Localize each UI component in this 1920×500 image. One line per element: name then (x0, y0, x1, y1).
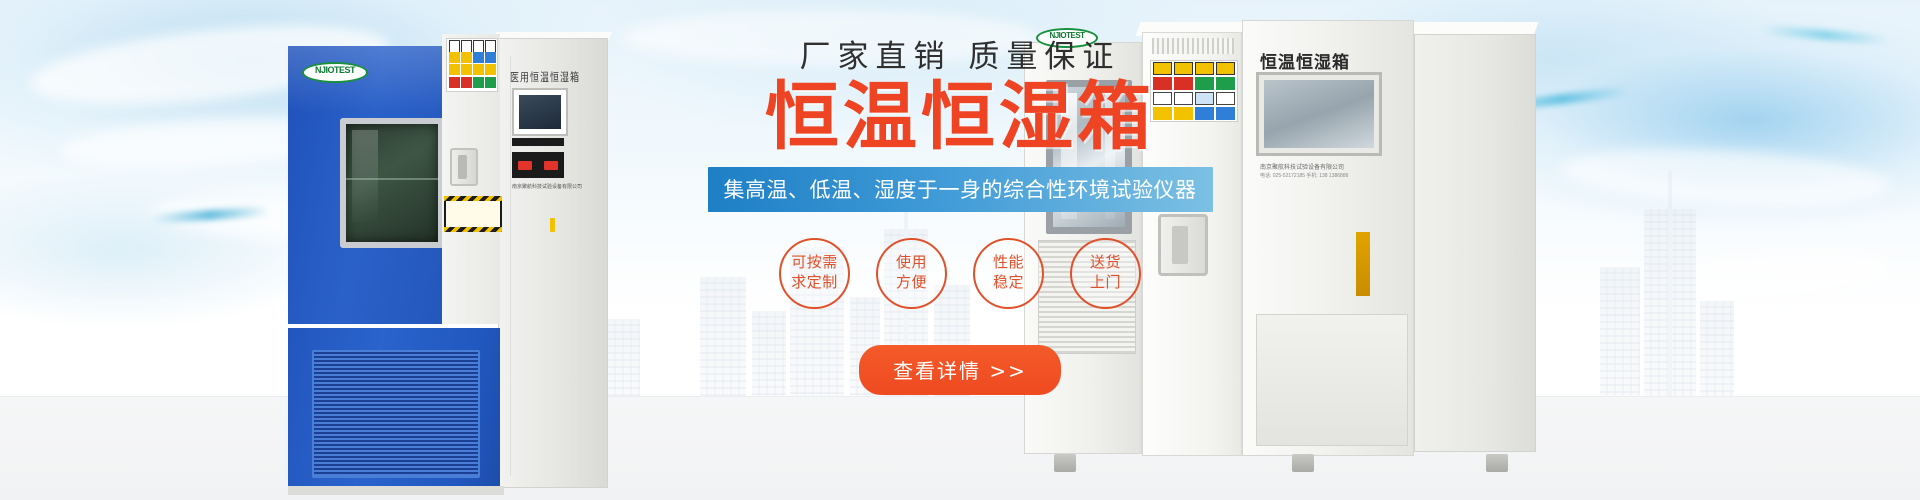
badge-line-1: 可按需 (791, 253, 838, 273)
badge-line-2: 求定制 (791, 273, 838, 293)
window-glare (352, 130, 378, 222)
machine-right-caster (1486, 454, 1508, 472)
promo-banner: NJIOTEST (0, 0, 1920, 500)
banner-headline: 恒温恒湿箱 (700, 78, 1220, 156)
machine-left-controller-screen (512, 88, 568, 136)
machine-left-door-handle (450, 148, 478, 186)
feature-badge-stable: 性能 稳定 (973, 238, 1044, 309)
machine-left-button-bar (512, 138, 564, 146)
badge-line-1: 使用 (896, 253, 927, 273)
machine-left-panel-label: 医用恒温恒湿箱 (510, 68, 580, 84)
machine-left-base (288, 486, 504, 495)
badge-line-2: 上门 (1090, 273, 1121, 293)
feature-badge-list: 可按需 求定制 使用 方便 性能 稳定 送货 上门 (700, 238, 1220, 309)
machine-right-lower-panel (1256, 314, 1408, 446)
machine-right-caster (1054, 454, 1076, 472)
badge-line-1: 送货 (1090, 253, 1121, 273)
badge-line-2: 稳定 (993, 273, 1024, 293)
machine-right-panel-title: 恒温恒湿箱 (1260, 48, 1350, 73)
machine-right-maker-contact: 电话: 025-52172185 手机: 138 1386886 (1260, 172, 1348, 179)
product-image-left: NJIOTEST (288, 28, 608, 493)
banner-subtitle: 集高温、低温、湿度于一身的综合性环境试验仪器 (708, 167, 1213, 212)
machine-left-maker-text: 南京聚航科技试验设备有限公司 (512, 183, 582, 190)
feature-badge-easy-use: 使用 方便 (876, 238, 947, 309)
machine-right-far-cabinet (1414, 34, 1536, 452)
cta-row: 查看详情 >> (700, 345, 1220, 395)
feature-badge-custom: 可按需 求定制 (779, 238, 850, 309)
badge-line-1: 性能 (993, 253, 1024, 273)
view-details-button[interactable]: 查看详情 >> (859, 345, 1061, 395)
brand-logo-left: NJIOTEST (302, 62, 368, 83)
accent-streak (1760, 24, 1890, 45)
banner-kicker: 厂家直销 质量保证 (700, 40, 1220, 74)
feature-badge-delivery: 送货 上门 (1070, 238, 1141, 309)
machine-left-viewing-window (340, 118, 444, 248)
machine-right-maker-text: 南京聚航科技试验设备有限公司 (1260, 162, 1344, 171)
machine-left-vent-grill (312, 350, 480, 478)
badge-line-2: 方便 (896, 273, 927, 293)
machine-left-panel-seam (510, 56, 511, 476)
machine-right-controller-screen (1256, 72, 1382, 156)
machine-right-caster (1292, 454, 1314, 472)
machine-left-indicator-strip (550, 218, 555, 232)
machine-right-yellow-strip (1356, 232, 1370, 296)
machine-left-warning-label-block (446, 38, 498, 92)
banner-copy-block: 厂家直销 质量保证 恒温恒湿箱 集高温、低温、湿度于一身的综合性环境试验仪器 可… (700, 40, 1220, 395)
machine-left-led-readouts (512, 152, 564, 178)
machine-left-caution-placard (444, 196, 502, 232)
